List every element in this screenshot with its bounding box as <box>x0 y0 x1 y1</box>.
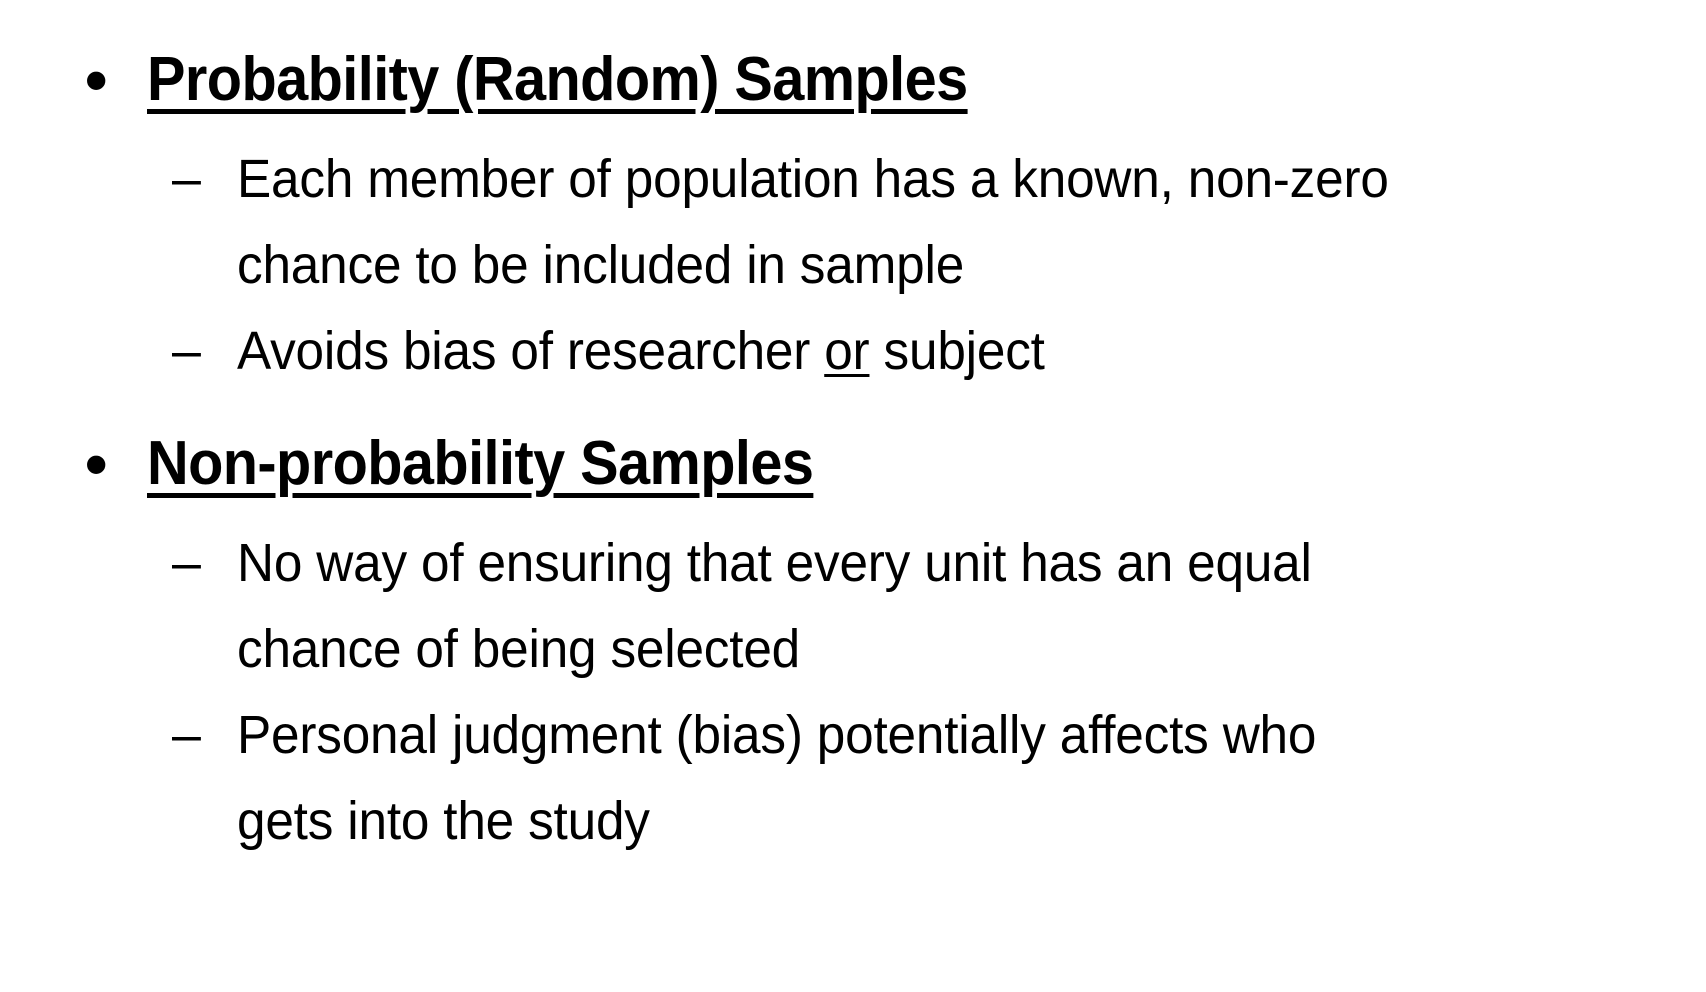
sub-bullet-emphasis-or: or <box>824 321 869 381</box>
bullet-group-probability-samples: • Probability (Random) Samples – Each me… <box>0 34 1706 394</box>
sub-bullet-text-segment: Each member of population has a known, n… <box>237 149 1389 295</box>
spacer-after-heading-2 <box>0 510 1706 520</box>
en-dash-icon: – <box>0 136 237 222</box>
slide-content-body: • Probability (Random) Samples – Each me… <box>0 0 1706 864</box>
bullet-dot-icon: • <box>0 34 147 126</box>
presentation-slide: • Probability (Random) Samples – Each me… <box>0 0 1706 992</box>
sub-bullet-text-segment: No way of ensuring that every unit has a… <box>237 533 1312 679</box>
sub-bullet-text-non-probability-1: No way of ensuring that every unit has a… <box>237 520 1426 692</box>
sub-bullet-text-probability-1: Each member of population has a known, n… <box>237 136 1426 308</box>
spacer-after-heading-1 <box>0 126 1706 136</box>
sub-bullet-probability-2: – Avoids bias of researcher or subject <box>0 308 1706 394</box>
sub-bullet-probability-1: – Each member of population has a known,… <box>0 136 1706 308</box>
sub-bullet-non-probability-2: – Personal judgment (bias) potentially a… <box>0 692 1706 864</box>
en-dash-icon: – <box>0 692 237 778</box>
bullet-dot-icon: • <box>0 418 147 510</box>
en-dash-icon: – <box>0 308 237 394</box>
sub-bullet-text-segment-tail: subject <box>869 321 1044 381</box>
sub-bullet-text-segment: Avoids bias of researcher <box>237 321 824 381</box>
top-spacer <box>0 0 1706 34</box>
top-level-bullet-label-non-probability: Non-probability Samples <box>147 418 1597 510</box>
sub-bullet-non-probability-1: – No way of ensuring that every unit has… <box>0 520 1706 692</box>
spacer-between-groups <box>0 394 1706 418</box>
top-level-bullet-non-probability: • Non-probability Samples <box>0 418 1706 510</box>
top-level-bullet-label-probability: Probability (Random) Samples <box>147 34 1597 126</box>
sub-bullet-text-segment: Personal judgment (bias) potentially aff… <box>237 705 1316 851</box>
bullet-group-non-probability-samples: • Non-probability Samples – No way of en… <box>0 418 1706 864</box>
en-dash-icon: – <box>0 520 237 606</box>
sub-bullet-text-non-probability-2: Personal judgment (bias) potentially aff… <box>237 692 1426 864</box>
top-level-bullet-probability: • Probability (Random) Samples <box>0 34 1706 126</box>
sub-bullet-text-probability-2: Avoids bias of researcher or subject <box>237 308 1426 394</box>
